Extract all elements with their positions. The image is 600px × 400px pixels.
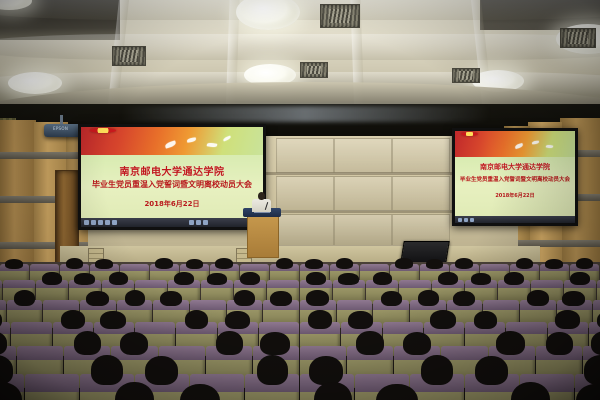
side-taskbar-icon-2 [464,218,468,222]
stage-wall-panel-6 [392,176,450,211]
dove-icon-side-1 [515,143,524,149]
stage-wall-panel-3 [392,138,450,174]
taskbar-icon-6 [189,220,194,225]
dove-icon-4 [223,135,232,141]
screen-title: 南京邮电大学通达学院 [81,163,263,178]
dove-icon-1 [164,140,176,148]
ceiling-band-1 [0,0,600,20]
speaker-person-body [252,199,271,212]
ceiling-light-1 [236,0,300,30]
side-taskbar-icon-1 [458,218,462,222]
taskbar-icon-2 [91,220,96,225]
stage-wall-panel-7 [276,214,334,246]
party-emblem-icon [90,128,115,133]
ceiling-band-2 [0,34,600,60]
ceiling-light-3 [8,72,62,94]
ceiling [0,0,600,118]
side-screen-banner-graphic [455,131,575,157]
dove-icon-side-2 [532,140,539,144]
hvac-vent-4 [452,68,480,83]
side-projection-taskbar [455,216,578,223]
stage-wall-panel-5 [334,176,392,211]
hvac-vent-5 [560,28,596,48]
party-emblem-icon-side [461,132,478,136]
taskbar-icon-5 [112,220,117,225]
dove-icon-2 [186,138,195,143]
seat [410,374,464,400]
screen-banner-graphic [81,127,263,155]
dove-icon-side-3 [546,145,553,149]
stage-wall-panel-2 [334,138,392,174]
projection-taskbar [81,218,266,227]
seat [245,374,299,400]
screen-subtitle: 毕业生党员重温入党誓词暨文明离校动员大会 [81,179,263,190]
podium [247,212,279,258]
hvac-vent-2 [112,46,146,66]
stage-wall-panel-1 [276,138,334,174]
hvac-vent-3 [300,62,328,78]
seat [25,374,79,400]
auditorium-seating-area [0,262,600,400]
taskbar-icon-8 [203,220,208,225]
screen-date: 2018年6月22日 [81,199,263,209]
projector-brand-label: EPSON [53,126,68,131]
stage-wall-panel-8 [334,214,392,246]
soffit-glow [120,106,490,122]
dove-icon-3 [206,142,217,148]
taskbar-icon-4 [105,220,110,225]
taskbar-icon-7 [196,220,201,225]
auditorium-photo: EPSON 南京邮电大学通达学院 毕业生党员重温入党誓词暨文明离校动员大会 20… [0,0,600,400]
side-taskbar-icon-3 [470,218,474,222]
hvac-vent-1 [320,4,360,28]
main-projection-screen: 南京邮电大学通达学院 毕业生党员重温入党誓词暨文明离校动员大会 2018年6月2… [78,124,266,230]
taskbar-icon-3 [98,220,103,225]
side-projection-screen: 南京邮电大学通达学院 毕业生党员重温入党誓词暨文明离校动员大会 2018年6月2… [452,128,578,226]
seat-row-6 [0,374,600,400]
speaker-person-head [258,192,265,200]
side-screen-date: 2018年6月22日 [455,192,575,199]
taskbar-icon-1 [84,220,89,225]
side-screen-title: 南京邮电大学通达学院 [455,162,575,172]
stage-wall-panel-4 [276,176,334,211]
side-screen-subtitle: 毕业生党员重温入党誓词暨文明离校动员大会 [455,175,575,183]
